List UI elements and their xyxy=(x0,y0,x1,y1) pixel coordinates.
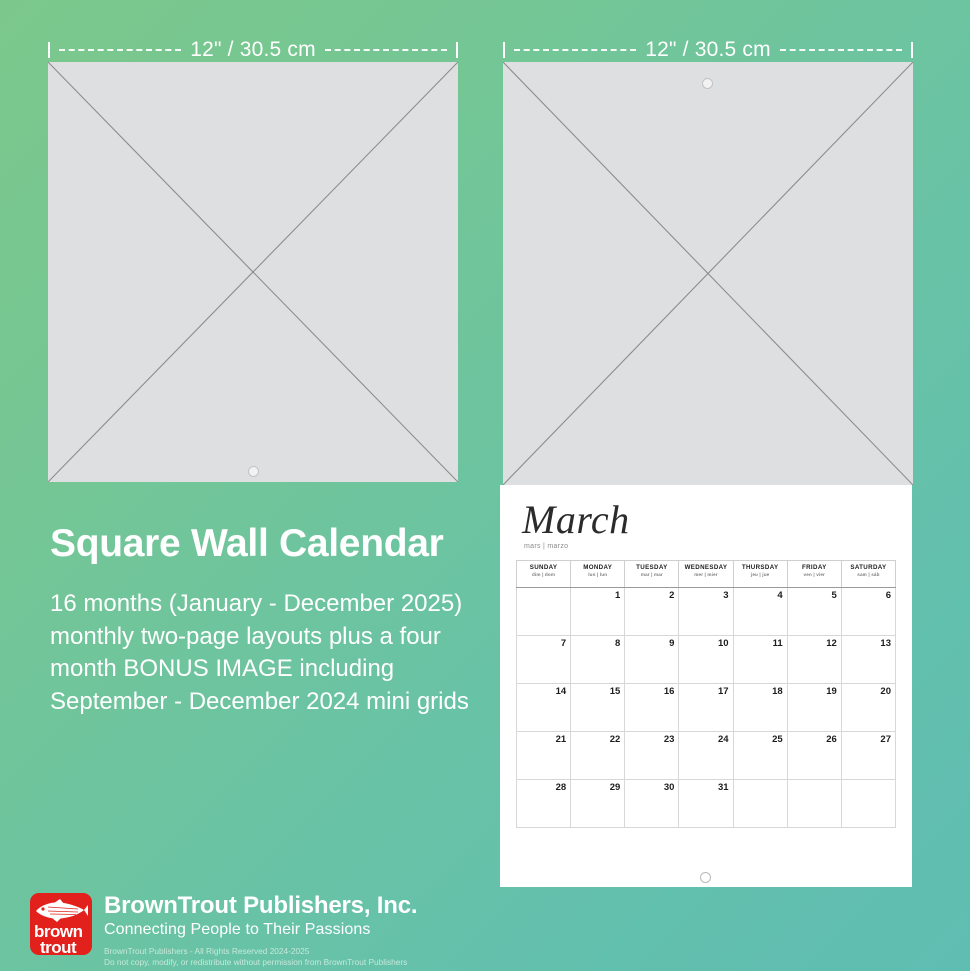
calendar-dow-label-ml: lun | lun xyxy=(572,572,623,577)
publisher-name: BrownTrout Publishers, Inc. xyxy=(104,893,417,919)
calendar-day-cell[interactable]: 26 xyxy=(787,732,841,780)
calendar-day-cell[interactable]: 22 xyxy=(571,732,625,780)
calendar-day-cell[interactable]: 12 xyxy=(787,636,841,684)
calendar-day-cell[interactable]: 8 xyxy=(571,636,625,684)
calendar-day-cell[interactable]: 4 xyxy=(733,588,787,636)
calendar-dow-label-en: THURSDAY xyxy=(735,564,786,571)
legal-line-2: Do not copy, modify, or redistribute wit… xyxy=(104,957,417,968)
calendar-dow-label-en: SUNDAY xyxy=(518,564,569,571)
calendar-day-cell[interactable] xyxy=(517,588,571,636)
hole-punch-right-panel-top xyxy=(702,78,713,89)
hole-punch-left-panel xyxy=(248,466,259,477)
hole-punch-calendar-bottom xyxy=(700,872,711,883)
calendar-dow-header-3: WEDNESDAYmer | mier xyxy=(679,561,733,588)
calendar-week-row: 28293031 xyxy=(517,780,896,828)
dimension-label-top-right: 12" / 30.5 cm xyxy=(645,38,771,62)
dimension-dash-left xyxy=(59,49,181,51)
calendar-month-multilingual: mars | marzo xyxy=(524,543,568,550)
calendar-dow-header-5: FRIDAYven | vier xyxy=(787,561,841,588)
calendar-day-cell[interactable]: 7 xyxy=(517,636,571,684)
calendar-dow-header-6: SATURDAYsam | sáb xyxy=(841,561,895,588)
dimension-top-right: 12" / 30.5 cm xyxy=(503,38,913,62)
calendar-day-cell[interactable]: 3 xyxy=(679,588,733,636)
browntrout-logo: brown trout xyxy=(30,893,92,955)
footer-text-block: BrownTrout Publishers, Inc. Connecting P… xyxy=(104,893,417,968)
calendar-dow-label-ml: mar | mar xyxy=(626,572,677,577)
calendar-week-row: 14151617181920 xyxy=(517,684,896,732)
calendar-day-cell[interactable]: 18 xyxy=(733,684,787,732)
legal-line-1: BrownTrout Publishers - All Rights Reser… xyxy=(104,946,417,957)
calendar-day-cell[interactable]: 10 xyxy=(679,636,733,684)
calendar-day-cell[interactable]: 5 xyxy=(787,588,841,636)
calendar-day-cell[interactable]: 28 xyxy=(517,780,571,828)
dimension-cap-left xyxy=(48,42,50,58)
calendar-day-cell[interactable]: 29 xyxy=(571,780,625,828)
calendar-day-cell[interactable] xyxy=(787,780,841,828)
calendar-header-row: SUNDAYdim | domMONDAYlun | lunTUESDAYmar… xyxy=(517,561,896,588)
dimension-right-vertical: 24" / 61 cm xyxy=(936,62,970,887)
calendar-day-cell[interactable] xyxy=(733,780,787,828)
product-description: 16 months (January - December 2025) mont… xyxy=(50,588,498,718)
logo-word-trout: trout xyxy=(40,939,76,955)
calendar-dow-label-ml: mer | mier xyxy=(680,572,731,577)
calendar-day-cell[interactable]: 20 xyxy=(841,684,895,732)
calendar-day-cell[interactable]: 23 xyxy=(625,732,679,780)
calendar-dow-label-en: MONDAY xyxy=(572,564,623,571)
calendar-dow-label-en: FRIDAY xyxy=(789,564,840,571)
publisher-tagline: Connecting People to Their Passions xyxy=(104,921,417,939)
calendar-dow-label-ml: dim | dom xyxy=(518,572,569,577)
calendar-day-cell[interactable]: 17 xyxy=(679,684,733,732)
calendar-dow-header-0: SUNDAYdim | dom xyxy=(517,561,571,588)
calendar-dow-label-en: WEDNESDAY xyxy=(680,564,731,571)
dimension-dash-right xyxy=(780,49,902,51)
calendar-day-cell[interactable]: 11 xyxy=(733,636,787,684)
calendar-day-cell[interactable]: 2 xyxy=(625,588,679,636)
calendar-day-cell[interactable]: 15 xyxy=(571,684,625,732)
calendar-week-row: 123456 xyxy=(517,588,896,636)
calendar-day-cell[interactable]: 21 xyxy=(517,732,571,780)
calendar-day-cell[interactable]: 19 xyxy=(787,684,841,732)
calendar-day-cell[interactable]: 9 xyxy=(625,636,679,684)
calendar-dow-label-en: TUESDAY xyxy=(626,564,677,571)
page-title: Square Wall Calendar xyxy=(50,522,444,566)
calendar-dow-label-ml: ven | vier xyxy=(789,572,840,577)
calendar-dow-label-ml: jeu | jue xyxy=(735,572,786,577)
dimension-top-left: 12" / 30.5 cm xyxy=(48,38,458,62)
dimension-label-top-left: 12" / 30.5 cm xyxy=(190,38,316,62)
calendar-dow-header-4: THURSDAYjeu | jue xyxy=(733,561,787,588)
calendar-dow-header-2: TUESDAYmar | mar xyxy=(625,561,679,588)
calendar-week-row: 78910111213 xyxy=(517,636,896,684)
left-image-placeholder xyxy=(48,62,458,482)
calendar-day-cell[interactable]: 6 xyxy=(841,588,895,636)
dimension-dash-right xyxy=(325,49,447,51)
calendar-day-cell[interactable]: 16 xyxy=(625,684,679,732)
calendar-day-cell[interactable]: 13 xyxy=(841,636,895,684)
placeholder-x-icon xyxy=(503,62,913,485)
calendar-grid: SUNDAYdim | domMONDAYlun | lunTUESDAYmar… xyxy=(516,560,896,828)
calendar-day-cell[interactable]: 1 xyxy=(571,588,625,636)
calendar-dow-header-1: MONDAYlun | lun xyxy=(571,561,625,588)
legal-notice: BrownTrout Publishers - All Rights Reser… xyxy=(104,946,417,968)
calendar-day-cell[interactable]: 24 xyxy=(679,732,733,780)
calendar-month-title: March xyxy=(522,500,630,540)
calendar-day-cell[interactable]: 25 xyxy=(733,732,787,780)
calendar-week-row: 21222324252627 xyxy=(517,732,896,780)
calendar-day-cell[interactable]: 31 xyxy=(679,780,733,828)
placeholder-x-icon xyxy=(48,62,458,482)
calendar-day-cell[interactable]: 27 xyxy=(841,732,895,780)
dimension-cap-right xyxy=(456,42,458,58)
footer: brown trout BrownTrout Publishers, Inc. … xyxy=(30,893,417,968)
calendar-dow-label-ml: sam | sáb xyxy=(843,572,894,577)
dimension-dash-left xyxy=(514,49,636,51)
calendar-day-cell[interactable]: 14 xyxy=(517,684,571,732)
dimension-cap-left xyxy=(503,42,505,58)
calendar-dow-label-en: SATURDAY xyxy=(843,564,894,571)
calendar-day-cell[interactable] xyxy=(841,780,895,828)
dimension-cap-right xyxy=(911,42,913,58)
trout-fish-icon xyxy=(34,898,88,922)
calendar-day-cell[interactable]: 30 xyxy=(625,780,679,828)
right-image-placeholder xyxy=(503,62,913,485)
calendar-preview: March mars | marzo SUNDAYdim | domMONDAY… xyxy=(500,485,912,887)
